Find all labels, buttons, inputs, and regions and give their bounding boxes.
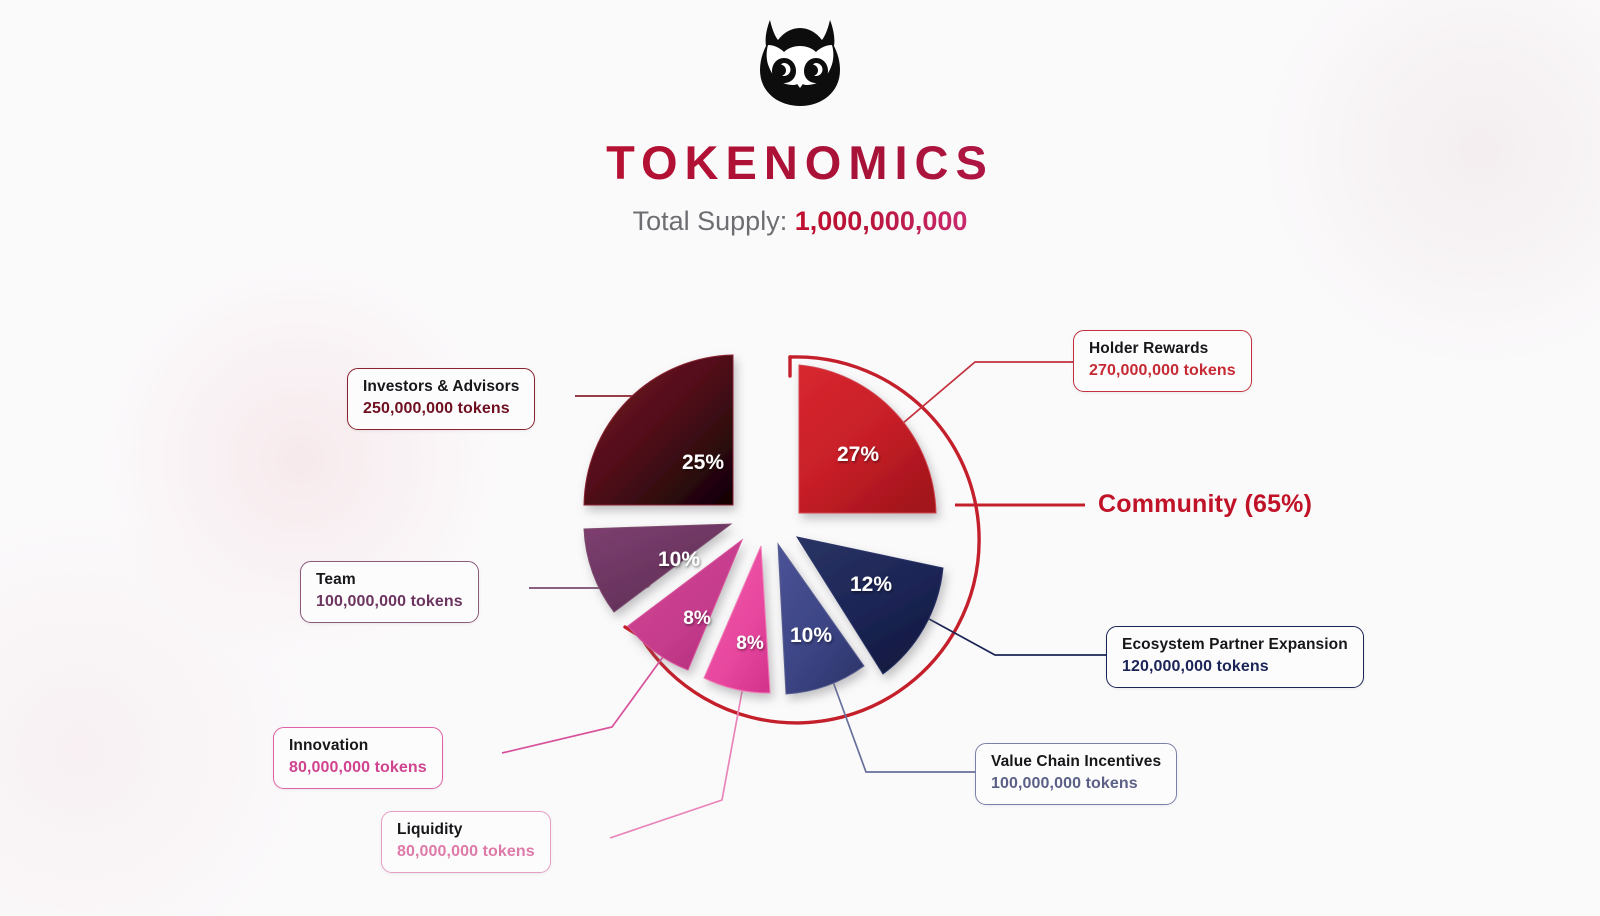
slice-holder-rewards[interactable] bbox=[799, 365, 936, 513]
community-label: Community (65%) bbox=[1098, 490, 1312, 519]
callout-value: 250,000,000 tokens bbox=[363, 400, 519, 418]
callout-liquidity[interactable]: Liquidity 80,000,000 tokens bbox=[381, 811, 551, 873]
callout-title: Ecosystem Partner Expansion bbox=[1122, 636, 1348, 654]
slice-investors-advisors[interactable] bbox=[584, 355, 733, 505]
callout-value: 270,000,000 tokens bbox=[1089, 362, 1236, 380]
callout-title: Liquidity bbox=[397, 821, 535, 839]
callout-investors-advisors[interactable]: Investors & Advisors 250,000,000 tokens bbox=[347, 368, 535, 430]
percent-label-holder-rewards: 27% bbox=[837, 443, 879, 466]
callout-title: Team bbox=[316, 571, 463, 589]
percent-label-value-chain: 10% bbox=[790, 624, 832, 647]
tokenomics-chart: 27% 12% 10% 8% 8% 10% 25% Community (65%… bbox=[0, 0, 1600, 916]
callout-value: 100,000,000 tokens bbox=[991, 775, 1161, 793]
callout-innovation[interactable]: Innovation 80,000,000 tokens bbox=[273, 727, 443, 789]
callout-value: 80,000,000 tokens bbox=[397, 843, 535, 861]
callout-holder-rewards[interactable]: Holder Rewards 270,000,000 tokens bbox=[1073, 330, 1252, 392]
percent-label-innovation: 8% bbox=[683, 608, 711, 629]
percent-label-investors: 25% bbox=[682, 451, 724, 474]
callout-value-chain-incentives[interactable]: Value Chain Incentives 100,000,000 token… bbox=[975, 743, 1177, 805]
percent-label-liquidity: 8% bbox=[736, 633, 764, 654]
callout-title: Holder Rewards bbox=[1089, 340, 1236, 358]
pie-chart-svg: 27% 12% 10% 8% 8% 10% 25% bbox=[0, 0, 1600, 916]
callout-ecosystem-partner-expansion[interactable]: Ecosystem Partner Expansion 120,000,000 … bbox=[1106, 626, 1364, 688]
callout-title: Investors & Advisors bbox=[363, 378, 519, 396]
callout-title: Innovation bbox=[289, 737, 427, 755]
callout-value: 80,000,000 tokens bbox=[289, 759, 427, 777]
percent-label-ecosystem: 12% bbox=[850, 573, 892, 596]
callout-value: 120,000,000 tokens bbox=[1122, 658, 1348, 676]
callout-title: Value Chain Incentives bbox=[991, 753, 1161, 771]
leader-line-innovation bbox=[502, 639, 676, 753]
callout-value: 100,000,000 tokens bbox=[316, 593, 463, 611]
callout-team[interactable]: Team 100,000,000 tokens bbox=[300, 561, 479, 623]
percent-label-team: 10% bbox=[658, 548, 700, 571]
